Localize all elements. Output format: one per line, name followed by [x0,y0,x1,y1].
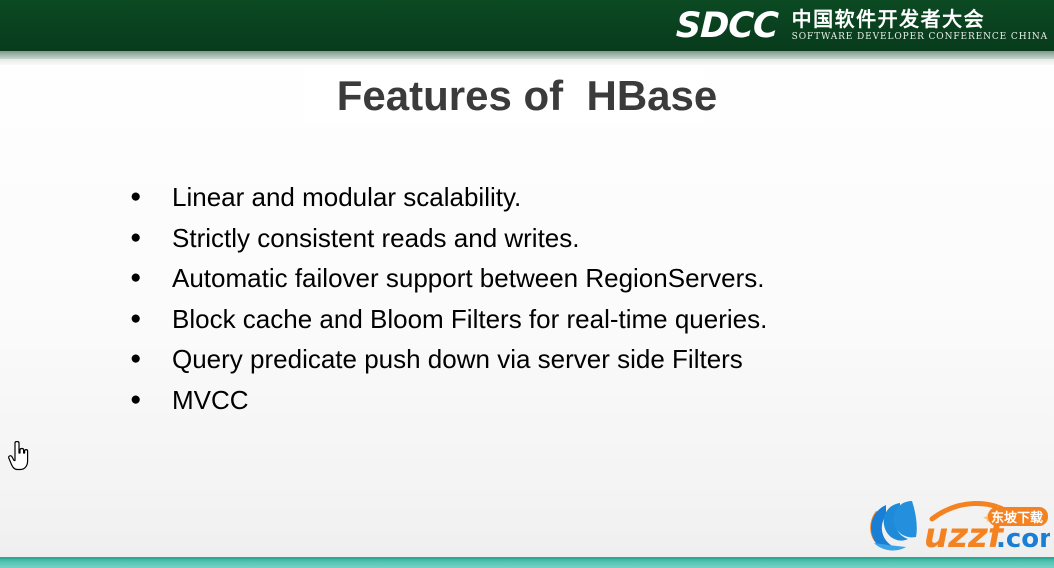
header-underline [0,51,1054,59]
bullet-marker-icon: ● [128,302,172,336]
sdcc-wordmark: SDCC [675,9,778,44]
uzzf-swirl-icon [870,501,917,550]
header-underline-fade [0,59,1054,65]
list-item-label: Block cache and Bloom Filters for real-t… [172,302,767,336]
pointing-hand-icon [8,441,30,471]
list-item-label: Query predicate push down via server sid… [172,342,743,376]
mouse-cursor-pointing-hand-icon [8,441,30,471]
bullet-marker-icon: ● [128,180,172,214]
bullet-marker-icon: ● [128,221,172,255]
list-item: ● Strictly consistent reads and writes. [128,221,1008,262]
list-item-label: MVCC [172,383,249,417]
list-item: ● Automatic failover support between Reg… [128,261,1008,302]
presentation-slide: SDCC 中国软件开发者大会 SOFTWARE DEVELOPER CONFER… [0,0,1054,568]
uzzf-domain-text: .com [996,524,1050,554]
uzzf-watermark: uzzf .com 东坡下载 [866,497,1050,559]
list-item: ● Linear and modular scalability. [128,180,1008,221]
list-item-label: Linear and modular scalability. [172,180,521,214]
sdcc-logo-text: 中国软件开发者大会 SOFTWARE DEVELOPER CONFERENCE … [792,9,1048,43]
list-item-label: Strictly consistent reads and writes. [172,221,580,255]
page-title: Features of HBase [0,72,1054,120]
uzzf-badge-text: 东坡下载 [991,510,1043,526]
uzzf-logo-svg: uzzf .com 东坡下载 [866,497,1050,559]
bullet-marker-icon: ● [128,342,172,376]
sdcc-logo: SDCC 中国软件开发者大会 SOFTWARE DEVELOPER CONFER… [676,5,1044,47]
footer-strip [0,559,1054,568]
list-item: ● Block cache and Bloom Filters for real… [128,302,1008,343]
sdcc-english-name: SOFTWARE DEVELOPER CONFERENCE CHINA [792,32,1048,43]
bullet-marker-icon: ● [128,261,172,295]
feature-bullet-list: ● Linear and modular scalability. ● Stri… [128,180,1008,424]
bullet-marker-icon: ● [128,383,172,417]
list-item: ● Query predicate push down via server s… [128,342,1008,383]
list-item: ● MVCC [128,383,1008,424]
list-item-label: Automatic failover support between Regio… [172,261,765,295]
sdcc-chinese-name: 中国软件开发者大会 [792,9,1048,30]
